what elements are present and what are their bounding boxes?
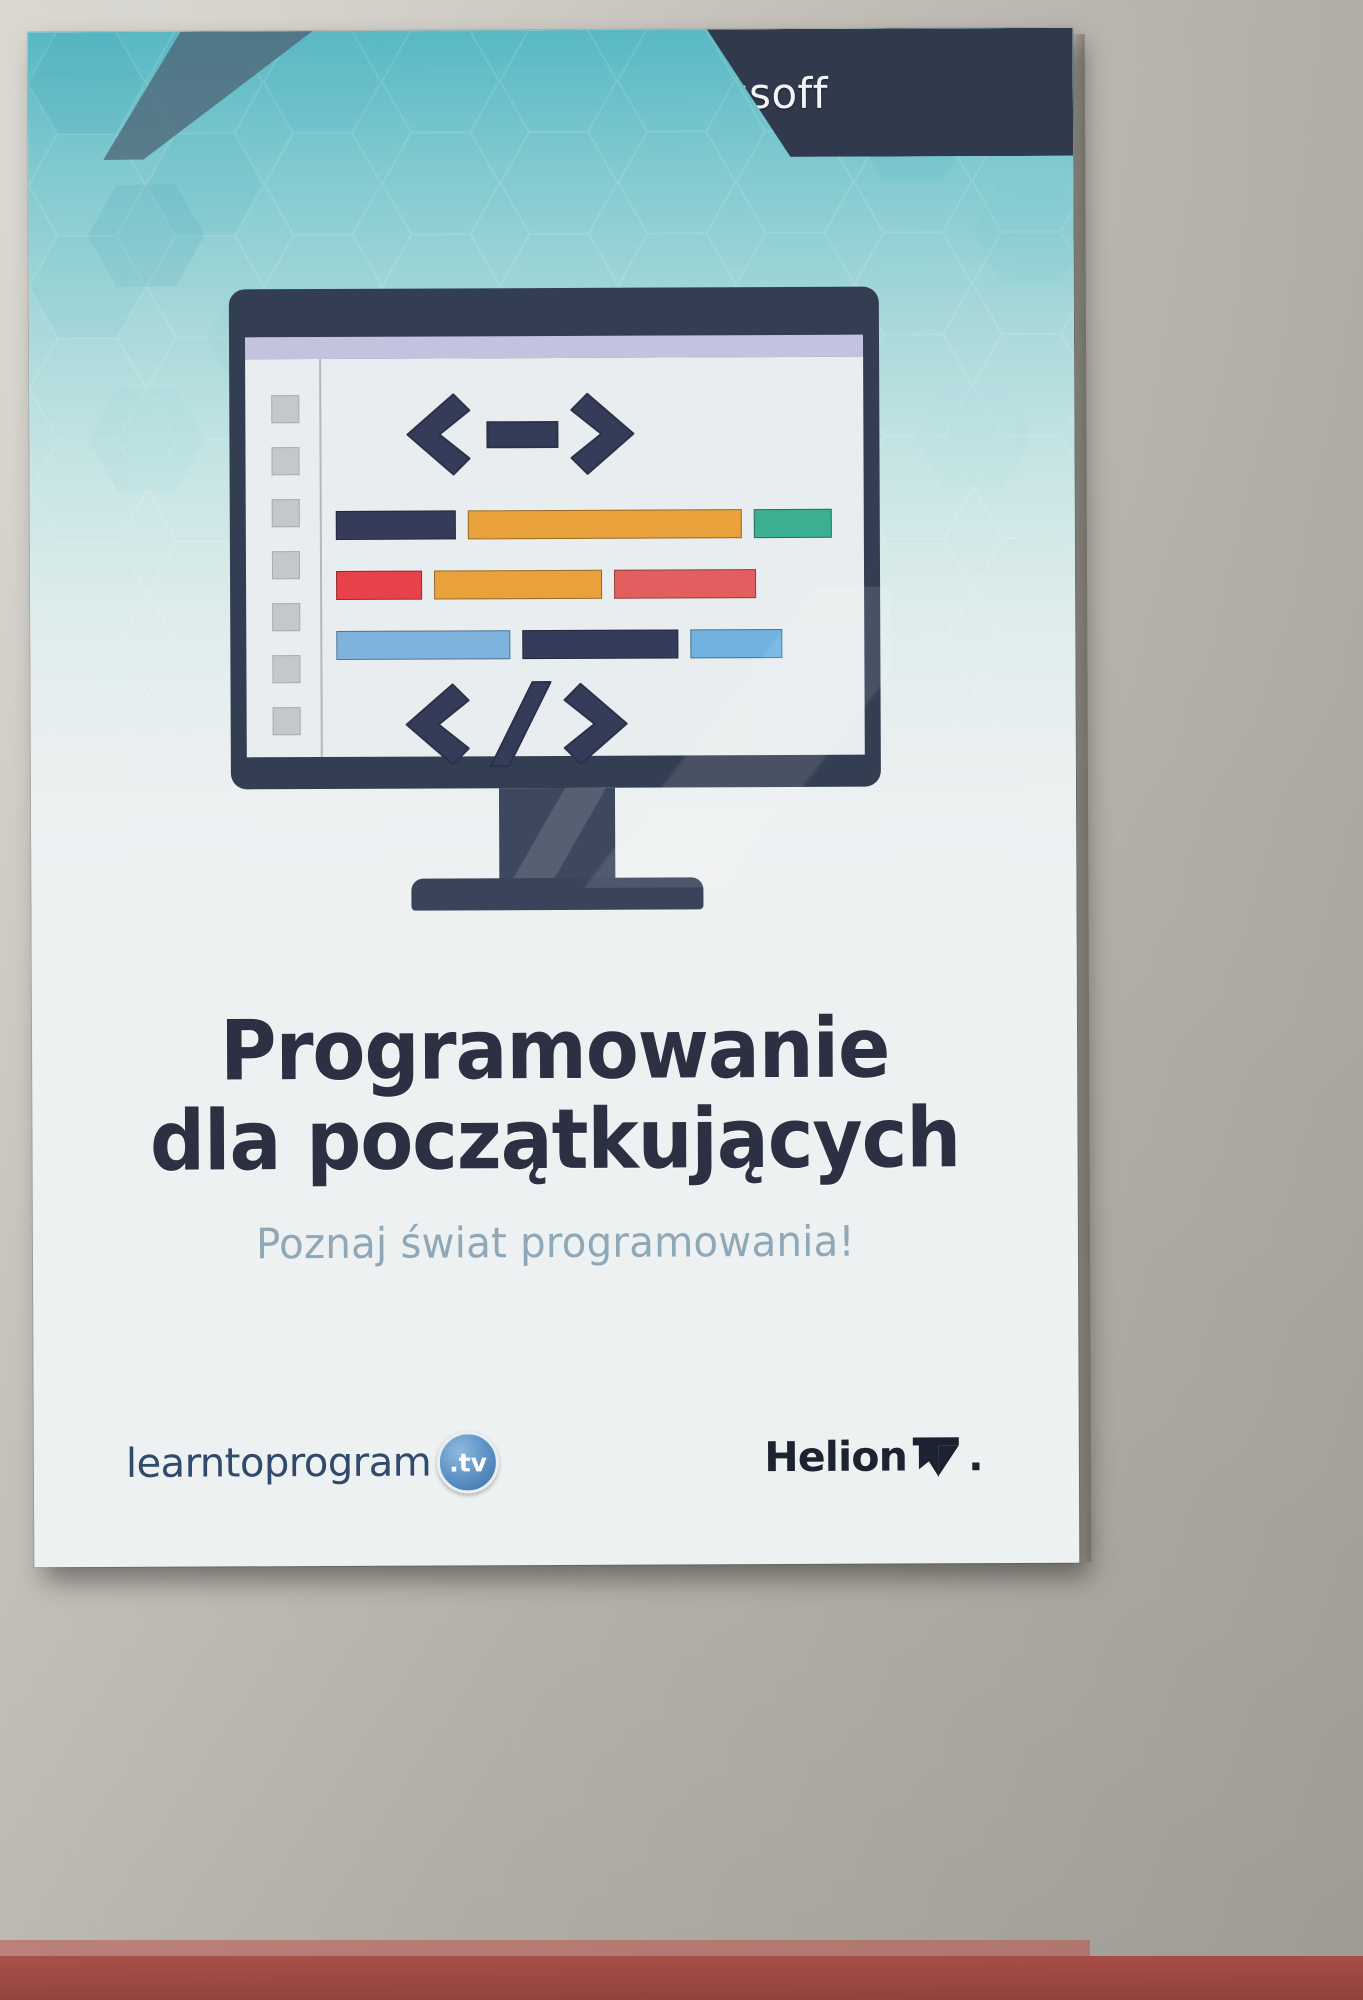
subtitle: Poznaj świat programowania! (54, 1216, 1057, 1269)
monitor-illustration (229, 287, 882, 930)
helion-wordmark: Helion (764, 1432, 907, 1481)
code-bar (468, 509, 742, 539)
code-open-glyph-icon (395, 386, 645, 483)
sidebar-square (272, 499, 300, 527)
tv-badge: .tv (437, 1431, 499, 1493)
monitor-neck (499, 788, 615, 885)
sidebar-square (272, 603, 300, 631)
monitor-titlebar (245, 335, 863, 360)
cover-footer: learntoprogram .tv Helion . (34, 1425, 1079, 1508)
monitor-base (411, 877, 703, 910)
title-block: Programowanie dla początkujących Poznaj … (32, 1003, 1078, 1270)
code-bar (336, 571, 422, 600)
code-bar (336, 510, 456, 540)
learntoprogram-wordmark: learntoprogram (126, 1440, 431, 1487)
code-close-glyph-icon (396, 678, 636, 771)
desk-red-strip-upper (0, 1940, 1090, 1956)
sidebar-square (273, 707, 301, 735)
title-line-2: dla początkujących (69, 1093, 1041, 1187)
helion-flag-icon (909, 1431, 963, 1481)
monitor-frame (229, 287, 881, 790)
helion-period: . (968, 1432, 983, 1480)
code-bar (522, 629, 678, 659)
editor-sidebar (245, 359, 323, 757)
book-cover: Mark Lassoff (28, 28, 1080, 1568)
sidebar-square (271, 395, 299, 423)
sidebar-square (272, 655, 300, 683)
title-line-1: Programowanie (68, 1003, 1040, 1097)
sidebar-square (272, 551, 300, 579)
code-bar (336, 630, 510, 660)
learntoprogram-logo: learntoprogram .tv (126, 1431, 500, 1495)
desk-red-strip (0, 1956, 1363, 2000)
code-bar (614, 569, 756, 599)
helion-logo: Helion . (764, 1431, 983, 1482)
code-bar (434, 570, 602, 600)
code-bar (754, 509, 832, 538)
editor-canvas (335, 357, 865, 757)
monitor-screen (245, 357, 865, 758)
code-bar (690, 629, 782, 658)
sidebar-square (271, 447, 299, 475)
